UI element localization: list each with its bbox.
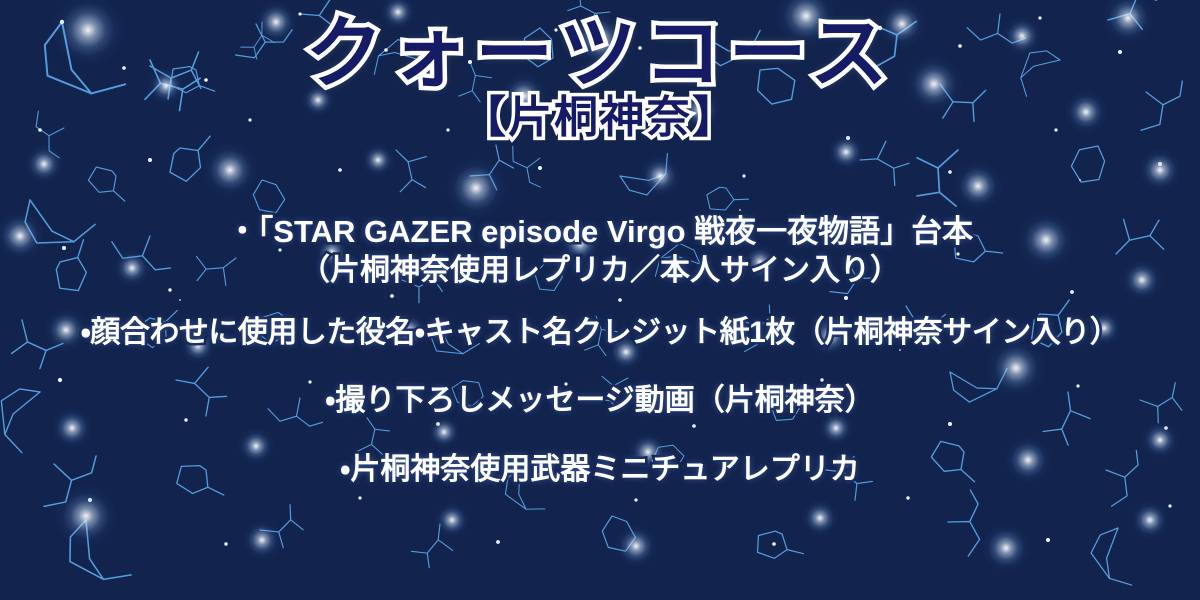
benefit-list: ・「STAR GAZER episode Virgo 戦夜一夜物語」台本 （片桐… [0, 212, 1200, 505]
list-item-line: ・撮り下ろしメッセージ動画（片桐神奈） [0, 382, 1200, 420]
list-item-line: ・片桐神奈使用武器ミニチュアレプリカ [0, 451, 1200, 489]
title-block: クォーツコース 【片桐神奈】 [0, 14, 1200, 140]
poster-content: クォーツコース 【片桐神奈】 ・「STAR GAZER episode Virg… [0, 0, 1200, 600]
quartz-course-poster: クォーツコース 【片桐神奈】 ・「STAR GAZER episode Virg… [0, 0, 1200, 600]
list-item: ・「STAR GAZER episode Virgo 戦夜一夜物語」台本 （片桐… [0, 212, 1200, 290]
list-item: ・撮り下ろしメッセージ動画（片桐神奈） [0, 382, 1200, 420]
page-title: クォーツコース [0, 14, 1200, 92]
page-subtitle: 【片桐神奈】 [0, 96, 1200, 140]
list-item: ・片桐神奈使用武器ミニチュアレプリカ [0, 451, 1200, 489]
list-item-line: ・顔合わせに使用した役名・キャスト名クレジット紙1枚（片桐神奈サイン入り） [0, 314, 1200, 352]
list-item: ・顔合わせに使用した役名・キャスト名クレジット紙1枚（片桐神奈サイン入り） [0, 314, 1200, 352]
list-item-line: （片桐神奈使用レプリカ／本人サイン入り） [0, 252, 1200, 290]
list-item-line: ・「STAR GAZER episode Virgo 戦夜一夜物語」台本 [0, 212, 1200, 252]
